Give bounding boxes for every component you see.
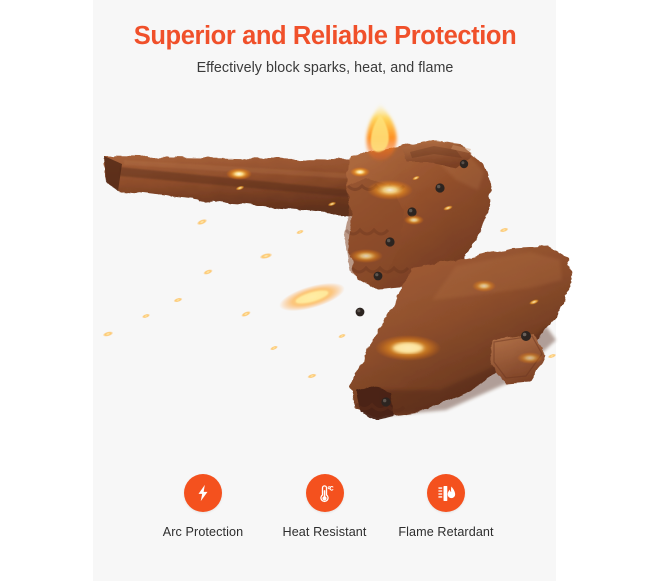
thermometer-celsius-icon: [314, 483, 335, 504]
flame-retardant-badge: [427, 474, 465, 512]
feature-heat-resistant: Heat Resistant: [267, 474, 383, 539]
feature-label: Arc Protection: [163, 525, 244, 539]
feature-label: Heat Resistant: [283, 525, 367, 539]
feature-list: Arc Protection Heat Resistant: [93, 474, 556, 539]
header-block: Superior and Reliable Protection Effecti…: [0, 22, 650, 76]
page-subtitle: Effectively block sparks, heat, and flam…: [0, 60, 650, 76]
marketing-image: Superior and Reliable Protection Effecti…: [0, 0, 650, 581]
flame-barrier-icon: [436, 483, 457, 504]
arc-protection-badge: [184, 474, 222, 512]
page-title: Superior and Reliable Protection: [0, 22, 650, 51]
feature-arc-protection: Arc Protection: [145, 474, 261, 539]
heat-resistant-badge: [306, 474, 344, 512]
lightning-bolt-icon: [193, 483, 213, 503]
feature-flame-retardant: Flame Retardant: [388, 474, 504, 539]
product-image: [60, 90, 590, 450]
feature-label: Flame Retardant: [398, 525, 493, 539]
